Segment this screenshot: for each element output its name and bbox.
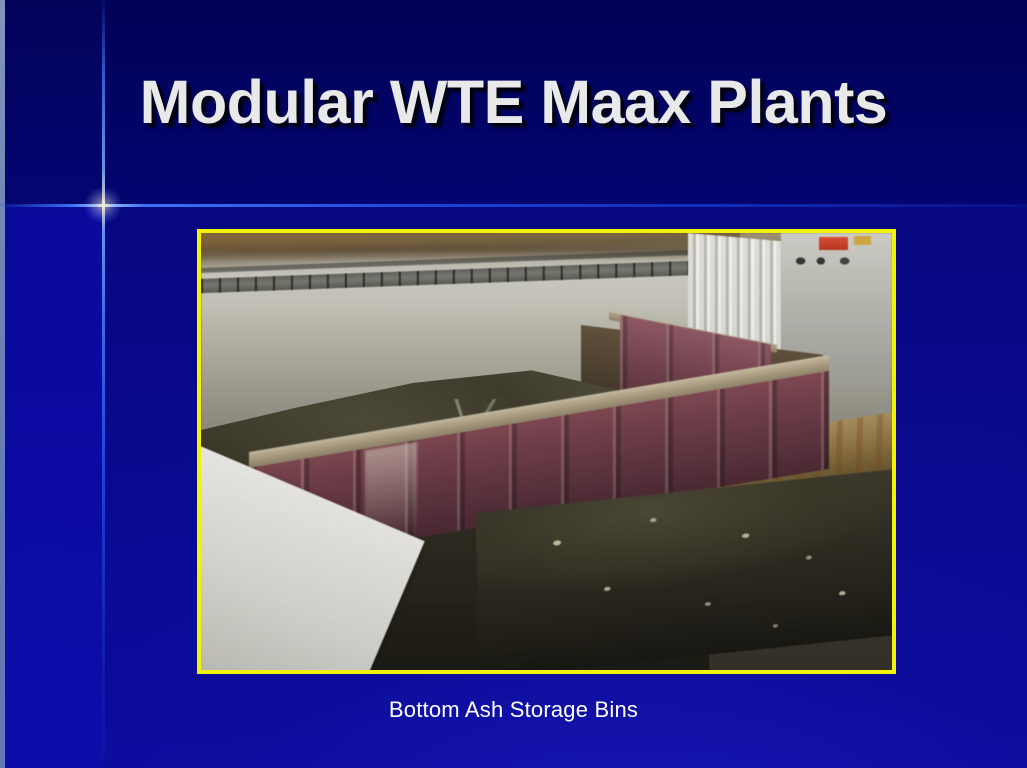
photo-outdoor-dark-objects xyxy=(788,256,871,266)
photo-outdoor-yellow-object xyxy=(854,236,871,246)
photo-outdoor-red-object xyxy=(819,237,848,250)
presentation-slide: Modular WTE Maax Plants xyxy=(0,0,1027,768)
photo-caption: Bottom Ash Storage Bins xyxy=(0,697,1027,723)
slide-title: Modular WTE Maax Plants xyxy=(0,72,1027,133)
crosshair-horizontal-line xyxy=(0,204,1027,207)
photo-frame xyxy=(197,229,896,674)
bottom-ash-storage-bins-photo xyxy=(201,233,892,670)
